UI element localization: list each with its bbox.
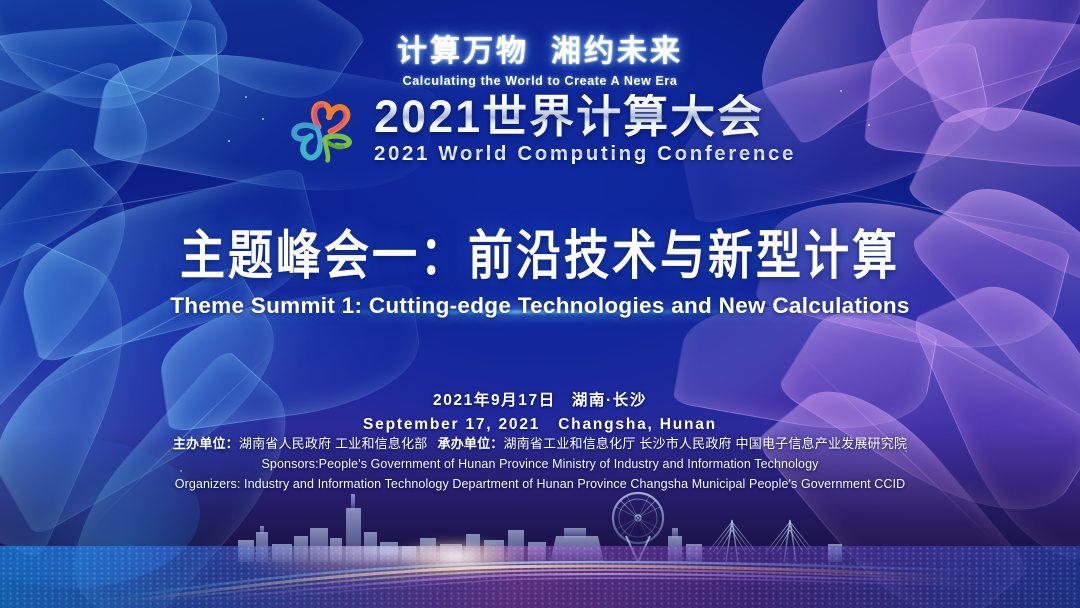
organizers-value-cn: 湖南省工业和信息化厅 长沙市人民政府 中国电子信息产业发展研究院 (504, 436, 908, 451)
skyline-buildings (238, 494, 546, 562)
organizers-english-line: Organizers: Industry and Information Tec… (0, 474, 1080, 494)
sponsors-label-cn: 主办单位： (173, 436, 239, 451)
conference-title-chinese: 2021世界计算大会 (374, 94, 764, 141)
tagline-chinese-part1: 计算万物 (397, 35, 529, 68)
conference-title-group: 2021世界计算大会 2021 World Computing Conferen… (374, 94, 796, 166)
summit-headline-block: 主题峰会一：前沿技术与新型计算 Theme Summit 1: Cutting-… (0, 212, 1080, 319)
exhibition-hall (550, 536, 604, 562)
credits-chinese-line: 主办单位：湖南省人民政府 工业和信息化部承办单位：湖南省工业和信息化厅 长沙市人… (0, 434, 1080, 454)
event-date-block: 2021年9月17日湖南·长沙 September 17, 2021Changs… (0, 388, 1080, 434)
city-scene (0, 478, 1080, 608)
changsha-skyline (230, 482, 850, 562)
event-date-chinese: 2021年9月17日湖南·长沙 (0, 388, 1080, 410)
event-date-en-value: September 17, 2021 (363, 416, 540, 433)
conference-title-english: 2021 World Computing Conference (374, 142, 796, 166)
tagline-chinese: 计算万物湘约未来 (0, 26, 1080, 70)
sponsors-value-cn: 湖南省人民政府 工业和信息化部 (239, 436, 428, 451)
event-date-english: September 17, 2021Changsha, Hunan (0, 416, 1080, 434)
ferris-wheel (613, 493, 663, 562)
butterfly-logo-icon (284, 92, 362, 168)
organizers-label-cn: 承办单位： (438, 436, 504, 451)
tagline-block: 计算万物湘约未来 Calculating the World to Create… (0, 26, 1080, 88)
event-venue-cn-value: 湖南·长沙 (572, 392, 647, 409)
summit-title-english: Theme Summit 1: Cutting-edge Technologie… (0, 293, 1080, 319)
road-headlight-glow (367, 530, 547, 584)
organizer-credits-block: 主办单位：湖南省人民政府 工业和信息化部承办单位：湖南省工业和信息化厅 长沙市人… (0, 434, 1080, 494)
cable-stayed-bridge (700, 520, 830, 562)
event-date-cn-value: 2021年9月17日 (433, 392, 556, 409)
light-road (0, 546, 1080, 608)
sponsors-english-line: Sponsors:People's Government of Hunan Pr… (0, 454, 1080, 474)
road-dot-grid (0, 546, 1080, 608)
tagline-chinese-part2: 湘约未来 (551, 35, 683, 68)
conference-poster: 计算万物湘约未来 Calculating the World to Create… (0, 0, 1080, 608)
event-venue-en-value: Changsha, Hunan (558, 416, 717, 433)
summit-title-chinese: 主题峰会一：前沿技术与新型计算 (0, 212, 1080, 289)
light-trails (0, 554, 1080, 602)
conference-logo-row: 2021世界计算大会 2021 World Computing Conferen… (0, 92, 1080, 168)
tagline-english: Calculating the World to Create A New Er… (0, 74, 1080, 88)
